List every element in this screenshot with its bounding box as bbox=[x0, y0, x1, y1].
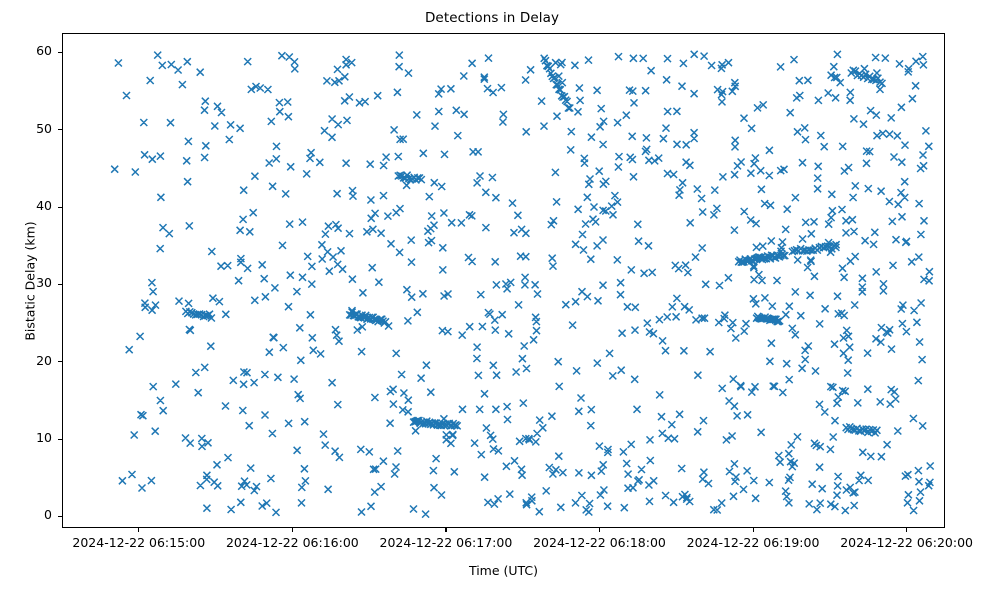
y-tick-label: 40 bbox=[12, 198, 52, 213]
marker-path bbox=[111, 51, 934, 518]
x-tick-mark bbox=[753, 528, 754, 532]
page-title: Detections in Delay bbox=[0, 10, 984, 26]
x-tick-label: 2024-12-22 06:15:00 bbox=[72, 535, 205, 550]
x-tick-label: 2024-12-22 06:16:00 bbox=[226, 535, 359, 550]
y-tick-mark bbox=[58, 129, 62, 130]
x-tick-mark bbox=[445, 528, 446, 532]
x-tick-label: 2024-12-22 06:20:00 bbox=[840, 535, 973, 550]
x-tick-label: 2024-12-22 06:19:00 bbox=[687, 535, 820, 550]
y-tick-label: 10 bbox=[12, 430, 52, 445]
x-tick-mark bbox=[292, 528, 293, 532]
y-tick-label: 50 bbox=[12, 121, 52, 136]
figure-canvas: Detections in Delay Bistatic Delay (km) … bbox=[0, 0, 984, 590]
y-tick-label: 20 bbox=[12, 353, 52, 368]
scatter-points bbox=[111, 51, 934, 518]
y-tick-mark bbox=[58, 207, 62, 208]
x-tick-mark bbox=[138, 528, 139, 532]
y-tick-label: 60 bbox=[12, 43, 52, 58]
y-tick-mark bbox=[58, 284, 62, 285]
y-tick-mark bbox=[58, 516, 62, 517]
plot-area bbox=[62, 33, 945, 528]
y-tick-mark bbox=[58, 439, 62, 440]
y-tick-label: 0 bbox=[12, 507, 52, 522]
x-axis-label: Time (UTC) bbox=[62, 563, 945, 578]
x-tick-mark bbox=[599, 528, 600, 532]
x-tick-mark bbox=[906, 528, 907, 532]
y-tick-mark bbox=[58, 361, 62, 362]
y-tick-mark bbox=[58, 52, 62, 53]
x-tick-label: 2024-12-22 06:17:00 bbox=[380, 535, 513, 550]
y-tick-label: 30 bbox=[12, 275, 52, 290]
scatter-series bbox=[63, 34, 945, 528]
x-tick-label: 2024-12-22 06:18:00 bbox=[533, 535, 666, 550]
